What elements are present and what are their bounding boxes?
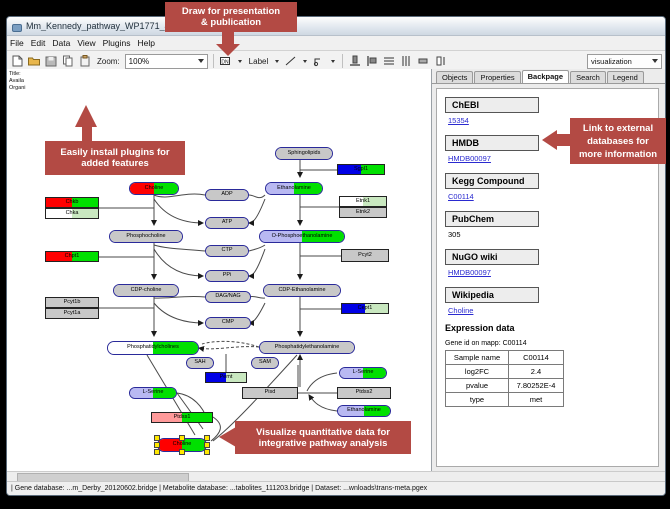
main-body: Title: Availa Organi (7, 69, 665, 471)
selection-handle[interactable] (204, 442, 210, 448)
callout-links-text: Link to external databases for more info… (579, 122, 657, 161)
callout-draw-text: Draw for presentation & publication (182, 6, 280, 28)
tab-properties[interactable]: Properties (474, 71, 520, 83)
node-label: Chka (66, 211, 79, 217)
selection-handle[interactable] (154, 435, 160, 441)
metabolite-node-dagnag[interactable]: DAG/NAG (205, 291, 251, 303)
distribute-horizontal-icon[interactable] (399, 54, 413, 68)
receptor-icon[interactable] (312, 54, 326, 68)
node-label: Ethanolamine (277, 186, 311, 192)
menu-item-plugins[interactable]: Plugins (103, 38, 131, 48)
expression-key: type (446, 393, 509, 407)
gene-node-etnk2[interactable]: Etnk2 (339, 207, 387, 218)
gene-node-pemt[interactable]: Pemt (205, 372, 247, 383)
expression-key: pvalue (446, 379, 509, 393)
db-value-wikipedia[interactable]: Choline (448, 306, 650, 315)
tab-objects[interactable]: Objects (436, 71, 473, 83)
db-value-pubchem: 305 (448, 230, 650, 239)
gene-node-chpt1[interactable]: Chpt1 (45, 251, 99, 262)
node-label: ATP (222, 220, 232, 226)
callout-visualize-tail (219, 427, 236, 447)
node-label: CMP (222, 320, 234, 326)
side-panel-tabs[interactable]: ObjectsPropertiesBackpageSearchLegend (432, 69, 665, 84)
gene-node-chka[interactable]: Chka (45, 208, 99, 219)
node-label: Ptdss1 (174, 415, 191, 421)
datanode-chevron-down-icon[interactable] (236, 54, 244, 68)
menu-item-file[interactable]: File (10, 38, 24, 48)
callout-plugins-text: Easily install plugins for added feature… (60, 147, 169, 169)
gene-node-ptdss1[interactable]: Ptdss1 (151, 412, 213, 423)
db-value-nugo-wiki[interactable]: HMDB00097 (448, 268, 650, 277)
new-document-icon[interactable] (10, 54, 24, 68)
callout-plugins: Easily install plugins for added feature… (45, 141, 185, 175)
menu-bar[interactable]: File Edit Data View Plugins Help (7, 36, 665, 51)
gene-id-line: Gene id on mapp: C00114 (445, 340, 650, 347)
zoom-value: 100% (129, 57, 149, 66)
selection-handle[interactable] (204, 449, 210, 455)
metabolite-node-atp[interactable]: ATP (205, 217, 249, 229)
selection-handle[interactable] (204, 435, 210, 441)
toolbar-separator-2 (342, 54, 343, 68)
svg-text:DN: DN (221, 60, 229, 66)
node-label: Pemt (220, 375, 233, 381)
node-label: CDP-choline (131, 288, 162, 294)
metabolite-node-o-phosphoethanolamine[interactable]: O-Phosphoethanolamine (259, 230, 345, 243)
node-label: Choline (145, 186, 164, 192)
menu-item-view[interactable]: View (77, 38, 95, 48)
metabolite-node-ctp[interactable]: CTP (205, 245, 249, 257)
node-label: CDP-Ethanolamine (278, 288, 325, 294)
node-label: Etnk2 (356, 210, 370, 216)
expression-row: pvalue7.80252E-4 (446, 379, 564, 393)
node-label: Pcyt2 (358, 253, 372, 259)
expression-row: Sample nameC00114 (446, 351, 564, 365)
db-header-nugo-wiki: NuGO wiki (445, 249, 539, 265)
db-value-kegg-compound[interactable]: C00114 (448, 192, 650, 201)
expression-value: 7.80252E-4 (509, 379, 564, 393)
node-label: Pisd (265, 390, 276, 396)
callout-visualize: Visualize quantitative data for integrat… (235, 421, 411, 454)
db-header-chebi: ChEBI (445, 97, 539, 113)
expression-value: 2.4 (509, 365, 564, 379)
gene-node-pcyt1a[interactable]: Pcyt1a (45, 308, 99, 319)
node-label: Phosphatidylethanolamine (275, 345, 340, 351)
expression-data-title: Expression data (445, 323, 650, 333)
selection-handle[interactable] (154, 449, 160, 455)
node-label: CTP (222, 248, 233, 254)
line-icon[interactable] (284, 54, 298, 68)
metabolite-node-ppi[interactable]: PPi (205, 270, 249, 282)
datanode-icon[interactable]: DN (219, 54, 233, 68)
menu-item-edit[interactable]: Edit (31, 38, 46, 48)
node-label: Phosphatidylcholines (127, 345, 179, 351)
gene-node-pisd[interactable]: Pisd (242, 387, 298, 399)
menu-item-data[interactable]: Data (52, 38, 70, 48)
callout-plugins-stem (82, 121, 92, 143)
metabolite-node-l-serine-right[interactable]: L-Serine (339, 367, 387, 379)
node-label: Choline (173, 442, 192, 448)
expression-key: log2FC (446, 365, 509, 379)
node-label: SAM (259, 360, 271, 366)
zoom-combo[interactable]: 100% (125, 54, 208, 69)
node-label: Pcyt1a (64, 311, 81, 317)
callout-draw: Draw for presentation & publication (165, 2, 297, 32)
metabolite-node-l-serine-left[interactable]: L-Serine (129, 387, 177, 399)
node-label: L-Serine (353, 370, 374, 376)
line-chevron-down-icon[interactable] (301, 54, 309, 68)
callout-links: Link to external databases for more info… (570, 118, 666, 164)
open-folder-icon[interactable] (27, 54, 41, 68)
db-header-pubchem: PubChem (445, 211, 539, 227)
metabolite-node-phosphatidylethanolamine[interactable]: Phosphatidylethanolamine (259, 341, 355, 354)
metabolite-node-ethanolamine[interactable]: Ethanolamine (265, 182, 323, 195)
callout-draw-stem (222, 32, 234, 44)
metabolite-node-cmp[interactable]: CMP (205, 317, 251, 329)
app-icon (11, 21, 22, 32)
visualization-value: visualization (591, 57, 632, 66)
pathvisio-window: Mm_Kennedy_pathway_WP1771_45176.gpml Fil… (6, 16, 666, 496)
title-bar: Mm_Kennedy_pathway_WP1771_45176.gpml (7, 17, 665, 36)
node-label: Sphingolipids (288, 151, 321, 157)
toolbar-separator (213, 54, 214, 68)
expression-key: Sample name (446, 351, 509, 365)
expression-value: met (509, 393, 564, 407)
expression-row: typemet (446, 393, 564, 407)
metabolite-node-adp[interactable]: ADP (205, 189, 249, 201)
selection-handle[interactable] (179, 435, 185, 441)
node-label: Chkb (66, 200, 79, 206)
expression-row: log2FC2.4 (446, 365, 564, 379)
visualization-combo[interactable]: visualization (587, 54, 662, 69)
callout-draw-tail (216, 44, 240, 56)
gene-node-pcyt1b[interactable]: Pcyt1b (45, 297, 99, 308)
distribute-vertical-icon[interactable] (382, 54, 396, 68)
gene-node-cept1[interactable]: Cept1 (341, 303, 389, 314)
gene-node-etnk1[interactable]: Etnk1 (339, 196, 387, 207)
metabolite-node-sam[interactable]: SAM (251, 357, 279, 369)
callout-visualize-text: Visualize quantitative data for integrat… (256, 427, 390, 449)
selection-handle[interactable] (154, 442, 160, 448)
gene-node-chkb[interactable]: Chkb (45, 197, 99, 208)
paste-icon[interactable] (78, 54, 92, 68)
node-label: SAH (194, 360, 205, 366)
metabolite-node-sphingolipids[interactable]: Sphingolipids (275, 147, 333, 160)
node-label: ADP (221, 192, 232, 198)
node-label: Chpt1 (65, 254, 80, 260)
node-label: Ptdss2 (356, 390, 373, 396)
metabolite-node-cdp-choline[interactable]: CDP-choline (113, 284, 179, 297)
node-label: O-Phosphoethanolamine (272, 234, 333, 240)
copy-icon[interactable] (61, 54, 75, 68)
align-left-icon[interactable] (365, 54, 379, 68)
node-label: Cept1 (358, 306, 373, 312)
tab-legend[interactable]: Legend (607, 71, 644, 83)
db-header-wikipedia: Wikipedia (445, 287, 539, 303)
metabolite-node-phosphocholine[interactable]: Phosphocholine (109, 230, 183, 243)
gene-node-ptdss2[interactable]: Ptdss2 (337, 387, 391, 399)
receptor-chevron-down-icon[interactable] (329, 54, 337, 68)
label-chevron-down-icon[interactable] (273, 54, 281, 68)
node-label: Phosphocholine (126, 234, 165, 240)
expression-table: Sample nameC00114log2FC2.4pvalue7.80252E… (445, 350, 564, 407)
menu-item-help[interactable]: Help (138, 38, 155, 48)
metabolite-node-ethanolamine-right[interactable]: Ethanolamine (337, 405, 391, 417)
zoom-label: Zoom: (97, 57, 120, 66)
node-label: Pcyt1b (64, 300, 81, 306)
callout-links-tail (542, 130, 557, 150)
db-header-hmdb: HMDB (445, 135, 539, 151)
chevron-down-icon (652, 59, 658, 63)
same-height-icon[interactable] (433, 54, 447, 68)
same-width-icon[interactable] (416, 54, 430, 68)
chevron-down-icon (198, 59, 204, 63)
label-button[interactable]: Label (249, 57, 269, 66)
db-header-kegg-compound: Kegg Compound (445, 173, 539, 189)
status-bar: | Gene database: ...m_Derby_20120602.bri… (7, 481, 665, 495)
metabolite-node-phosphatidylcholines[interactable]: Phosphatidylcholines (107, 341, 199, 355)
selection-handle[interactable] (179, 449, 185, 455)
metabolite-node-sah[interactable]: SAH (186, 357, 214, 369)
node-label: DAG/NAG (215, 294, 240, 300)
node-label: Sgpl1 (354, 167, 368, 173)
metabolite-node-cdp-ethanolamine[interactable]: CDP-Ethanolamine (263, 284, 341, 297)
status-bar-text: | Gene database: ...m_Derby_20120602.bri… (7, 485, 427, 492)
metabolite-node-choline-top[interactable]: Choline (129, 182, 179, 195)
tab-backpage[interactable]: Backpage (522, 70, 569, 83)
pathway-canvas[interactable]: Title: Availa Organi (7, 69, 432, 471)
node-label: Ethanolamine (347, 408, 381, 414)
tab-search[interactable]: Search (570, 71, 606, 83)
gene-node-sgpl1[interactable]: Sgpl1 (337, 164, 385, 175)
node-label: Etnk1 (356, 199, 370, 205)
save-icon[interactable] (44, 54, 58, 68)
node-label: L-Serine (143, 390, 164, 396)
expression-value: C00114 (509, 351, 564, 365)
gene-node-pcyt2[interactable]: Pcyt2 (341, 249, 389, 262)
align-bottom-icon[interactable] (348, 54, 362, 68)
node-label: PPi (223, 273, 232, 279)
